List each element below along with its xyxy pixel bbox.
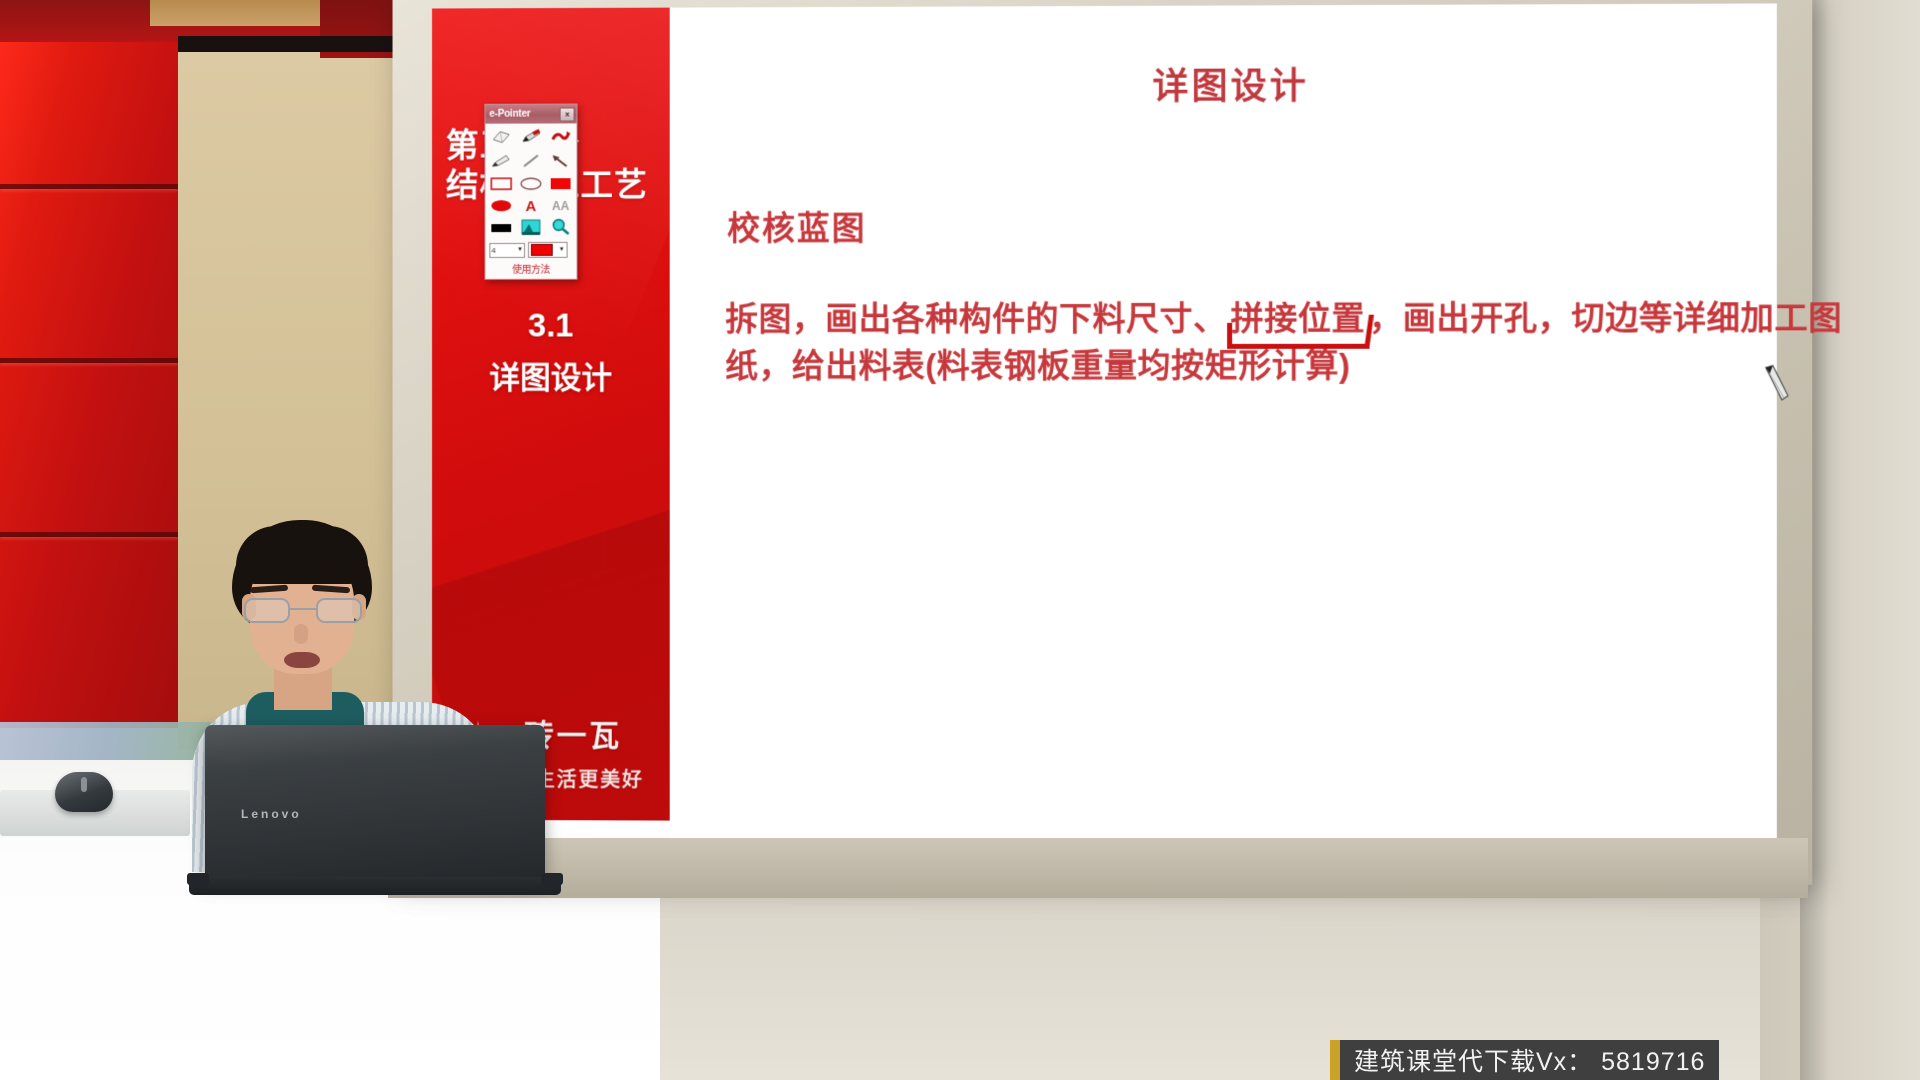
filled-rectangle-tool-button[interactable] bbox=[547, 173, 574, 193]
laptop-hinge bbox=[189, 877, 561, 895]
eraser-tool-button[interactable] bbox=[488, 127, 515, 147]
slide-subheading: 校核蓝图 bbox=[727, 201, 866, 249]
ellipse-tool-button[interactable] bbox=[518, 173, 545, 193]
body-text-part1: 拆图，画出各种构件的下料尺寸、 bbox=[725, 300, 1226, 337]
zoom-tool-button[interactable] bbox=[547, 217, 574, 237]
red-wall-panel bbox=[0, 28, 178, 728]
epointer-tool-grid: A AA bbox=[485, 123, 576, 239]
pencil-tool-button[interactable] bbox=[488, 151, 515, 171]
wall-panel-groove bbox=[0, 532, 178, 537]
whiteboard-frame: 第三部分 结构施工工艺 3.1 详图设计 一砖一瓦 让建筑人生活更美好 详图设计… bbox=[393, 0, 1813, 885]
glasses-lens-left bbox=[244, 598, 290, 623]
pen-tool-button[interactable] bbox=[518, 127, 545, 147]
filled-ellipse-tool-button[interactable] bbox=[488, 195, 515, 215]
laptop-brand-label: Lenovo bbox=[241, 807, 302, 821]
pen-width-value: 4 bbox=[491, 246, 495, 255]
whiteboard-bottom-trim bbox=[388, 838, 1808, 898]
bracket-left-mark bbox=[1227, 323, 1232, 349]
epointer-help-link[interactable]: 使用方法 bbox=[485, 260, 576, 279]
glasses-icon bbox=[244, 598, 362, 624]
text-double-tool-button[interactable]: AA bbox=[547, 195, 574, 215]
laptop-lid: Lenovo bbox=[205, 725, 545, 880]
undo-tool-button[interactable] bbox=[547, 126, 574, 146]
presenter-nose bbox=[294, 624, 308, 644]
glasses-lens-right bbox=[316, 598, 362, 623]
blackbar-tool-button[interactable] bbox=[488, 217, 515, 237]
watermark-accent-bar bbox=[1330, 1040, 1340, 1080]
chevron-down-icon[interactable]: ▼ bbox=[517, 247, 523, 253]
slide-title: 详图设计 bbox=[670, 56, 1777, 111]
close-icon[interactable]: x bbox=[560, 107, 575, 121]
highlight-text: 拼接位置 bbox=[1231, 300, 1365, 337]
svg-text:AA: AA bbox=[552, 199, 570, 213]
pen-width-select[interactable]: 4 ▼ bbox=[489, 242, 525, 257]
text-tool-button[interactable]: A bbox=[518, 195, 545, 215]
screenshot-stage: 第三部分 结构施工工艺 3.1 详图设计 一砖一瓦 让建筑人生活更美好 详图设计… bbox=[0, 0, 1920, 1080]
color-swatch bbox=[531, 244, 553, 256]
epointer-titlebar[interactable]: e-Pointer x bbox=[485, 105, 576, 124]
watermark-banner: 建筑课堂代下载Vx： 5819716 bbox=[1330, 1040, 1719, 1080]
presentation-slide: 第三部分 结构施工工艺 3.1 详图设计 一砖一瓦 让建筑人生活更美好 详图设计… bbox=[432, 3, 1777, 848]
wall-panel-groove bbox=[0, 184, 178, 189]
pen-cursor-icon bbox=[1762, 364, 1792, 406]
line-tool-button[interactable] bbox=[518, 151, 545, 171]
epointer-toolbar-window[interactable]: e-Pointer x bbox=[484, 104, 577, 280]
image-tool-button[interactable] bbox=[518, 217, 545, 237]
annotated-highlight: 拼接位置 bbox=[1227, 296, 1369, 343]
laptop-foot-left bbox=[187, 873, 209, 885]
epointer-settings-row: 4 ▼ ▼ bbox=[485, 239, 576, 260]
slide-body-text: 拆图，画出各种构件的下料尺寸、拼接位置，画出开孔，切边等详细加工图纸，给出料表(… bbox=[725, 295, 1889, 390]
color-select[interactable]: ▼ bbox=[528, 242, 568, 258]
wall-panel-groove bbox=[0, 358, 178, 363]
presenter-mouth bbox=[284, 652, 320, 668]
slide-content-panel: 详图设计 校核蓝图 拆图，画出各种构件的下料尺寸、拼接位置，画出开孔，切边等详细… bbox=[670, 3, 1777, 848]
arrow-tool-button[interactable] bbox=[547, 151, 574, 171]
presenter-hair-front bbox=[236, 526, 368, 584]
slide-section-number: 3.1 bbox=[432, 306, 670, 344]
projection-surface: 第三部分 结构施工工艺 3.1 详图设计 一砖一瓦 让建筑人生活更美好 详图设计… bbox=[432, 3, 1777, 848]
epointer-title-text: e-Pointer bbox=[489, 109, 530, 120]
rectangle-tool-button[interactable] bbox=[488, 173, 515, 193]
laptop: Lenovo bbox=[205, 725, 545, 925]
svg-text:A: A bbox=[526, 198, 537, 213]
watermark-text: 建筑课堂代下载Vx： 5819716 bbox=[1354, 1042, 1705, 1078]
glasses-bridge bbox=[290, 608, 316, 610]
chevron-down-icon[interactable]: ▼ bbox=[559, 247, 565, 253]
laptop-foot-right bbox=[541, 873, 563, 885]
slide-section-title: 详图设计 bbox=[432, 352, 670, 397]
computer-mouse bbox=[55, 772, 113, 812]
